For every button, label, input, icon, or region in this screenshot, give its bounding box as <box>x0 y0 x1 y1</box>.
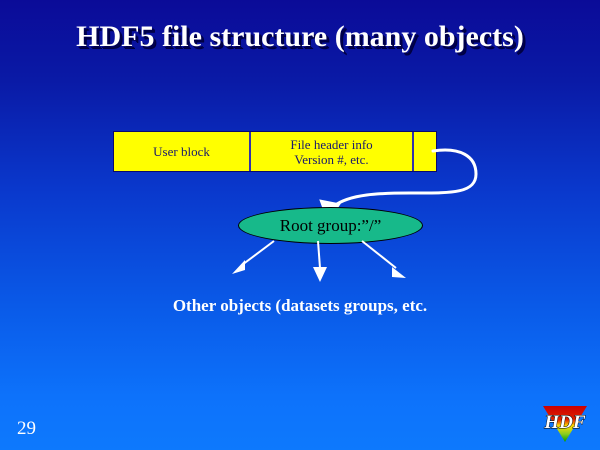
other-objects-caption: Other objects (datasets groups, etc. <box>0 296 600 316</box>
slide-canvas: HDF5 file structure (many objects) User … <box>0 0 600 450</box>
page-title: HDF5 file structure (many objects) <box>0 20 600 54</box>
page-number: 29 <box>17 418 36 440</box>
hdf-logo-icon: HDF <box>540 402 590 444</box>
root-group-node: Root group:”/” <box>238 207 423 244</box>
file-box-cell-file-header: File header info Version #, etc. <box>251 132 414 171</box>
file-box-cell-user-block: User block <box>114 132 251 171</box>
fanout-arrows-icon <box>210 238 420 290</box>
hdf-logo-text: HDF <box>543 412 586 433</box>
hdf5-file-layout-box: User block File header info Version #, e… <box>113 131 437 172</box>
file-box-cell-empty <box>414 132 436 171</box>
root-group-label: Root group:”/” <box>280 216 382 236</box>
